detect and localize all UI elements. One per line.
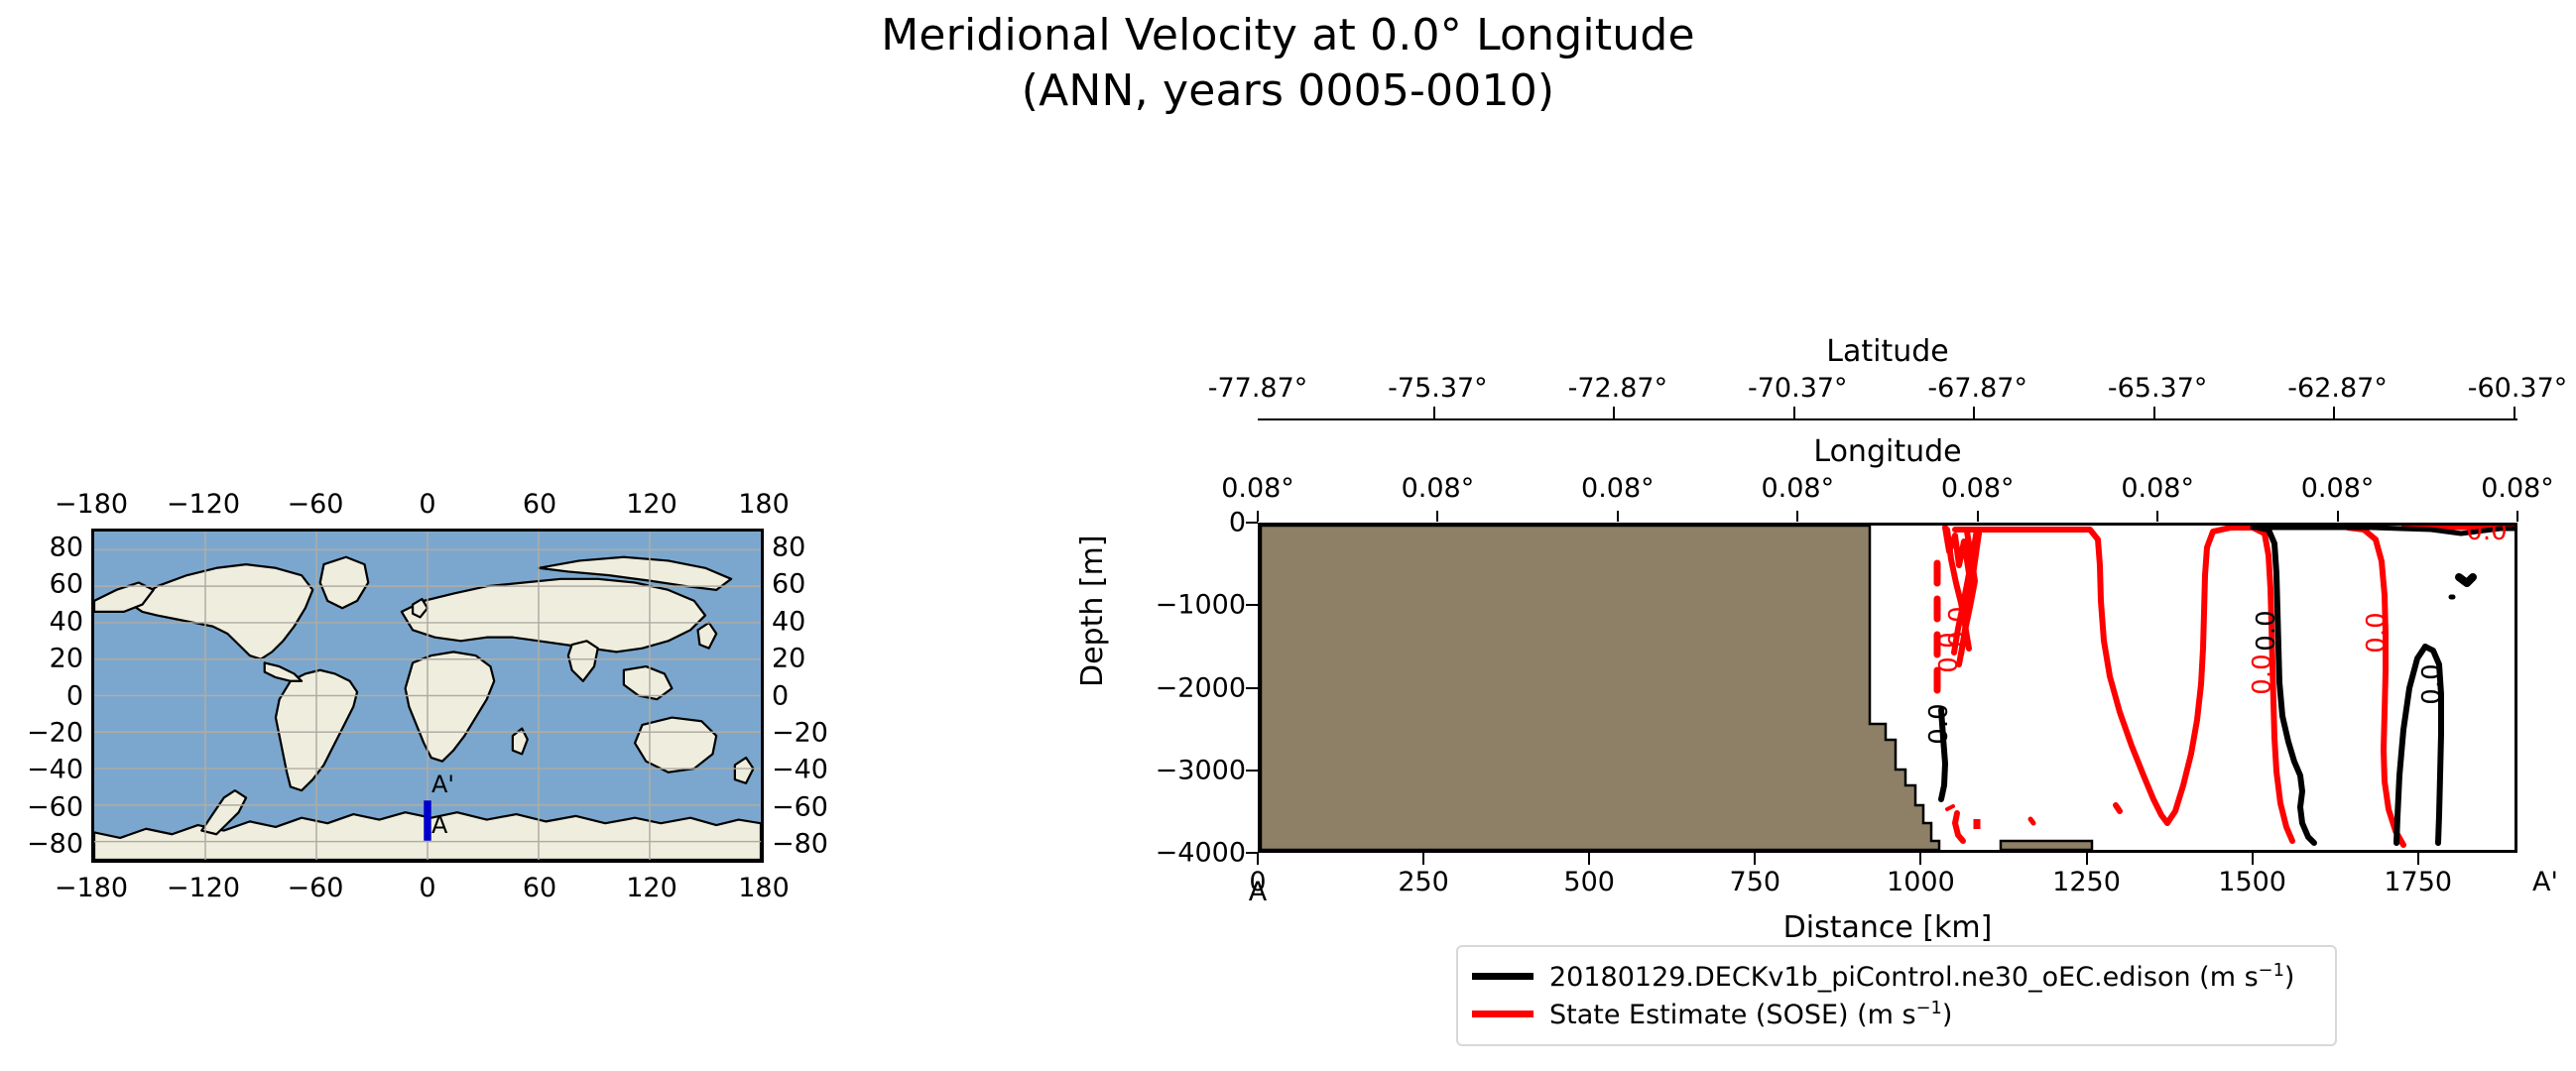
- latitude-tick-label: -72.87°: [1568, 373, 1668, 404]
- legend-entry-sose[interactable]: State Estimate (SOSE) (m s−1): [1472, 995, 2321, 1032]
- latitude-tick-mark: [1793, 407, 1795, 418]
- map-xtick-label: 180: [738, 489, 790, 520]
- map-transect-start-label: A: [431, 811, 447, 839]
- depth-tick-mark: [1246, 687, 1258, 689]
- map-transect-end-label: A': [431, 771, 454, 798]
- depth-axis-title: Depth [m]: [1075, 535, 1110, 687]
- contour-label: 0.0: [2252, 610, 2281, 651]
- map-ytick-label: −80: [772, 829, 829, 860]
- contour-label: 0.0: [2466, 526, 2507, 546]
- distance-axis-title: Distance [km]: [1783, 910, 1993, 945]
- longitude-tick-mark: [1436, 511, 1438, 522]
- legend-swatch-sose: [1472, 1011, 1533, 1017]
- latitude-tick-label: -62.87°: [2287, 373, 2388, 404]
- map-ytick-label: 40: [26, 606, 83, 637]
- longitude-tick-mark: [1257, 511, 1259, 522]
- depth-tick-mark: [1246, 604, 1258, 606]
- latitude-tick-mark: [1613, 407, 1615, 418]
- distance-tick-mark: [1754, 853, 1756, 865]
- depth-tick-label: −4000: [1107, 838, 1246, 869]
- map-ytick-label: −40: [772, 755, 829, 785]
- longitude-tick-mark: [1796, 511, 1798, 522]
- distance-tick-mark: [1919, 853, 1921, 865]
- depth-tick-mark: [1246, 770, 1258, 772]
- latitude-tick-label: -77.87°: [1208, 373, 1308, 404]
- distance-tick-label: 1750: [2384, 867, 2452, 897]
- latitude-tick-mark: [2153, 407, 2155, 418]
- latitude-tick-label: -60.37°: [2468, 373, 2568, 404]
- cross-section-panel: Latitude -77.87°-75.37°-72.87°-70.37°-67…: [1081, 337, 2559, 892]
- transect-start-label: A: [1249, 877, 1267, 907]
- map-frame: A' A: [91, 529, 764, 863]
- distance-tick-label: 1250: [2052, 867, 2121, 897]
- longitude-axis-title: Longitude: [1813, 434, 1961, 469]
- map-ytick-label: −60: [26, 791, 83, 822]
- latitude-tick-mark: [1973, 407, 1975, 418]
- map-xtick-label: −180: [55, 873, 128, 903]
- latitude-tick-label: -67.87°: [1927, 373, 2027, 404]
- world-map-panel: −180−120−60060120180 −180−120−6006012018…: [30, 466, 853, 912]
- longitude-tick-mark: [1977, 511, 1979, 522]
- distance-tick-label: 250: [1398, 867, 1449, 897]
- contour-label: 0.0: [2248, 654, 2277, 694]
- legend-label-sose: State Estimate (SOSE) (m s−1): [1549, 998, 1952, 1030]
- distance-tick-label: 1500: [2218, 867, 2286, 897]
- distance-tick-mark: [2086, 853, 2088, 865]
- map-ytick-label: −20: [772, 717, 829, 748]
- legend: 20180129.DECKv1b_piControl.ne30_oEC.edis…: [1456, 945, 2337, 1046]
- contour-labels: 0.0 0.0 0.0 0.0 0.0 0.0 0.0 0.0: [1924, 526, 2508, 745]
- map-ytick-label: 60: [772, 569, 829, 600]
- longitude-tick-mark: [2156, 511, 2158, 522]
- map-xtick-label: −180: [55, 489, 128, 520]
- page-title: Meridional Velocity at 0.0° Longitude: [0, 8, 2576, 63]
- depth-tick-label: −1000: [1107, 590, 1246, 621]
- map-ytick-label: 20: [26, 644, 83, 674]
- map-ytick-label: 80: [772, 532, 829, 562]
- map-ytick-label: −20: [26, 717, 83, 748]
- latitude-tick-mark: [2333, 407, 2335, 418]
- depth-tick-label: 0: [1107, 508, 1246, 538]
- map-ytick-label: 40: [772, 606, 829, 637]
- map-xtick-label: 60: [523, 873, 556, 903]
- distance-tick-label: 750: [1730, 867, 1781, 897]
- legend-label-model: 20180129.DECKv1b_piControl.ne30_oEC.edis…: [1549, 960, 2294, 993]
- longitude-tick-label: 0.08°: [1761, 473, 1834, 504]
- map-xtick-label: −60: [288, 489, 344, 520]
- latitude-axis-spine: [1258, 418, 2517, 420]
- map-xtick-label: −120: [167, 489, 240, 520]
- page-subtitle: (ANN, years 0005-0010): [0, 63, 2576, 119]
- latitude-tick-label: -75.37°: [1388, 373, 1488, 404]
- distance-tick-label: 1000: [1887, 867, 1955, 897]
- longitude-tick-label: 0.08°: [2301, 473, 2375, 504]
- contour-label: 0.0: [2417, 663, 2447, 704]
- latitude-tick-label: -70.37°: [1748, 373, 1848, 404]
- longitude-tick-mark: [2337, 511, 2339, 522]
- contour-label: 0.0: [1934, 632, 1964, 672]
- map-ytick-label: −60: [772, 791, 829, 822]
- map-xtick-label: −60: [288, 873, 344, 903]
- map-xtick-label: 0: [419, 873, 435, 903]
- longitude-tick-label: 0.08°: [2481, 473, 2554, 504]
- legend-entry-model[interactable]: 20180129.DECKv1b_piControl.ne30_oEC.edis…: [1472, 957, 2321, 995]
- depth-tick-label: −3000: [1107, 755, 1246, 785]
- contour-label: 0.0: [1924, 703, 1954, 744]
- distance-tick-label: 500: [1563, 867, 1615, 897]
- map-ytick-label: 20: [772, 644, 829, 674]
- contour-graphic: 0.0 0.0 0.0 0.0 0.0 0.0 0.0 0.0: [1261, 526, 2515, 850]
- latitude-tick-mark: [2514, 407, 2515, 418]
- map-ytick-label: 0: [772, 680, 829, 711]
- longitude-tick-label: 0.08°: [1402, 473, 1475, 504]
- longitude-tick-mark: [2516, 511, 2518, 522]
- longitude-tick-label: 0.08°: [1581, 473, 1655, 504]
- distance-tick-mark: [2252, 853, 2254, 865]
- map-ytick-label: −80: [26, 829, 83, 860]
- map-ytick-label: 60: [26, 569, 83, 600]
- longitude-tick-label: 0.08°: [1221, 473, 1294, 504]
- depth-tick-label: −2000: [1107, 672, 1246, 703]
- longitude-tick-label: 0.08°: [2121, 473, 2194, 504]
- cross-section-axes: 0.0 0.0 0.0 0.0 0.0 0.0 0.0 0.0: [1258, 523, 2517, 853]
- distance-tick-mark: [1422, 853, 1424, 865]
- latitude-axis-title: Latitude: [1826, 334, 1948, 369]
- map-graphic: [94, 532, 761, 860]
- map-xtick-label: 0: [419, 489, 435, 520]
- distance-tick-mark: [1588, 853, 1590, 865]
- distance-tick-mark: [1257, 853, 1259, 865]
- map-ytick-label: 0: [26, 680, 83, 711]
- map-xtick-label: 120: [626, 489, 677, 520]
- contour-label: 0.0: [2362, 612, 2392, 653]
- latitude-tick-label: -65.37°: [2108, 373, 2208, 404]
- map-ytick-label: −40: [26, 755, 83, 785]
- map-ytick-label: 80: [26, 532, 83, 562]
- transect-end-label: A': [2532, 867, 2558, 897]
- legend-swatch-model: [1472, 973, 1533, 980]
- longitude-tick-mark: [1617, 511, 1619, 522]
- latitude-tick-mark: [1433, 407, 1435, 418]
- map-xtick-label: 180: [738, 873, 790, 903]
- longitude-tick-label: 0.08°: [1941, 473, 2015, 504]
- map-xtick-label: 120: [626, 873, 677, 903]
- figure-title: Meridional Velocity at 0.0° Longitude (A…: [0, 8, 2576, 119]
- map-xtick-label: −120: [167, 873, 240, 903]
- map-xtick-label: 60: [523, 489, 556, 520]
- depth-tick-mark: [1246, 522, 1258, 524]
- distance-tick-mark: [2417, 853, 2419, 865]
